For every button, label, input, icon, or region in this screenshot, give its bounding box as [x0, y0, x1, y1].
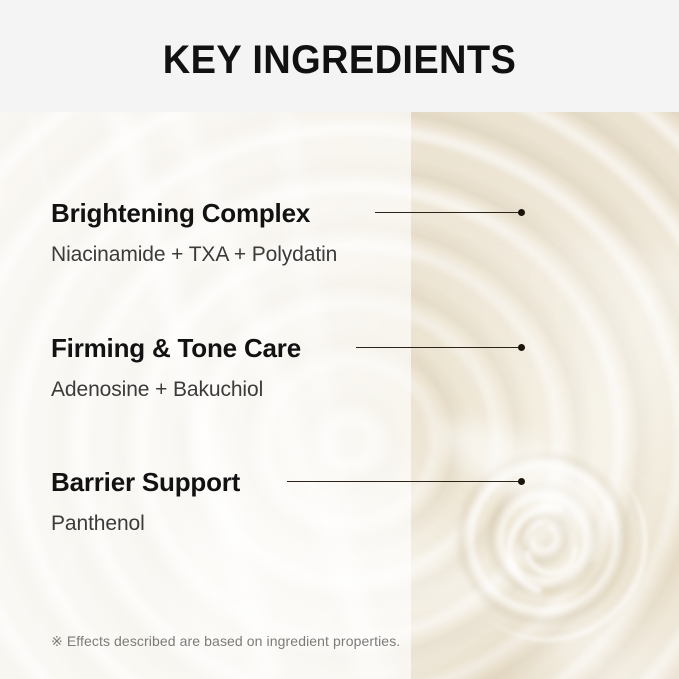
ingredient-title: Firming & Tone Care [51, 333, 301, 363]
connector-dot-2 [518, 344, 525, 351]
connector-line-3 [287, 481, 522, 482]
key-ingredients-graphic: KEY INGREDIENTS Brightening Complex Niac… [0, 0, 679, 679]
ingredient-subtitle: Niacinamide + TXA + Polydatin [51, 242, 337, 268]
connector-dot-1 [518, 209, 525, 216]
ingredient-subtitle: Panthenol [51, 511, 240, 537]
ingredient-title: Barrier Support [51, 467, 240, 497]
header-band: KEY INGREDIENTS [0, 0, 679, 112]
connector-dot-3 [518, 478, 525, 485]
connector-line-1 [375, 212, 522, 213]
ingredient-subtitle: Adenosine + Bakuchiol [51, 377, 301, 403]
connector-line-2 [356, 347, 522, 348]
ingredient-title: Brightening Complex [51, 198, 337, 228]
ingredients-content: Brightening Complex Niacinamide + TXA + … [0, 112, 679, 679]
ingredient-item-firming-tone-care: Firming & Tone Care Adenosine + Bakuchio… [51, 333, 301, 403]
ingredient-item-barrier-support: Barrier Support Panthenol [51, 467, 240, 537]
footnote-text: ※ Effects described are based on ingredi… [51, 632, 400, 650]
page-title: KEY INGREDIENTS [17, 36, 662, 84]
ingredient-item-brightening-complex: Brightening Complex Niacinamide + TXA + … [51, 198, 337, 268]
